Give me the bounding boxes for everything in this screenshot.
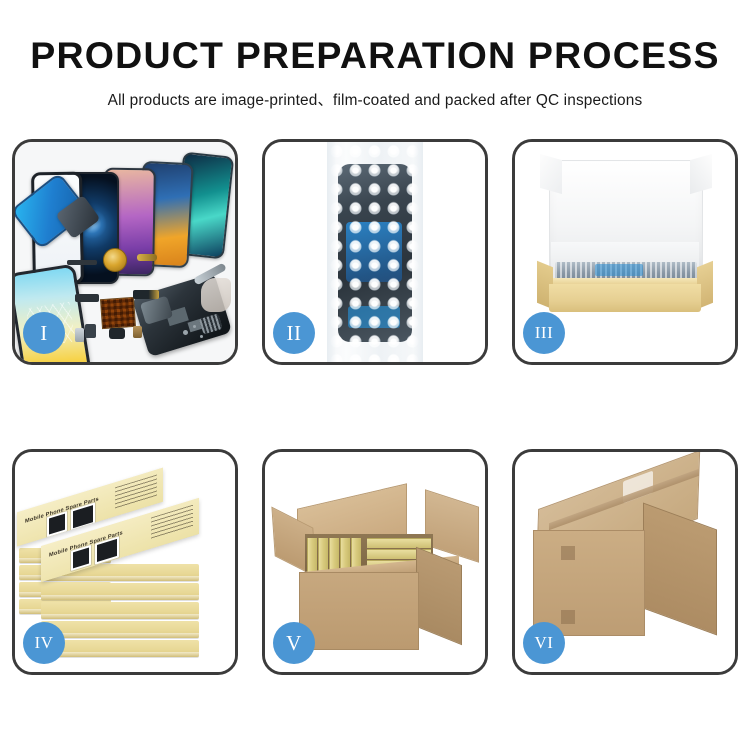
stacked-box xyxy=(41,583,199,600)
step-panel-bubble-wrap-packing[interactable]: II xyxy=(262,139,488,365)
box-window-icon xyxy=(47,511,67,537)
process-steps-grid: I II III xyxy=(12,139,738,675)
camera-module-icon xyxy=(85,324,96,338)
bubble-highlight-icon xyxy=(327,142,423,362)
retail-box-in-carton xyxy=(367,538,431,548)
step-badge-4: IV xyxy=(23,622,65,664)
carton-hand-hole-icon xyxy=(561,610,575,624)
step-panel-stacked-retail-boxes[interactable]: Mobile Phone Spare Parts Mobile Phone Sp… xyxy=(12,449,238,675)
step-panel-products-and-spare-parts[interactable]: I xyxy=(12,139,238,365)
step-badge-3: III xyxy=(523,312,565,354)
carton-front-face xyxy=(299,572,419,650)
page-header: PRODUCT PREPARATION PROCESS All products… xyxy=(0,0,750,110)
wrap-edge-right xyxy=(413,142,423,362)
box-edge xyxy=(41,576,199,581)
step-panel-inner-box-packing[interactable]: III xyxy=(512,139,738,365)
box-edge xyxy=(41,652,199,657)
connector-grid-icon xyxy=(100,297,136,329)
stacked-box xyxy=(41,602,199,619)
box-edge xyxy=(41,614,199,619)
box-edge xyxy=(41,595,199,600)
flex-cable-icon xyxy=(75,294,99,302)
step-badge-2: II xyxy=(273,312,315,354)
wrap-edge-left xyxy=(327,142,337,362)
page-title: PRODUCT PREPARATION PROCESS xyxy=(0,0,750,77)
page-subtitle: All products are image-printed、film-coat… xyxy=(0,77,750,110)
box-front-face xyxy=(549,284,701,312)
step-badge-1: I xyxy=(23,312,65,354)
speaker-module-icon xyxy=(109,328,125,339)
stacked-box xyxy=(41,621,199,638)
step-badge-6: VI xyxy=(523,622,565,664)
flex-cable-icon xyxy=(133,290,159,299)
hand-icon xyxy=(201,278,231,312)
step-badge-5: V xyxy=(273,622,315,664)
button-part-icon xyxy=(133,326,142,338)
flex-cable-icon xyxy=(137,254,157,261)
step-panel-sealed-carton[interactable]: VI xyxy=(512,449,738,675)
screws-icon xyxy=(183,330,188,335)
carton-hand-hole-icon xyxy=(561,546,575,560)
antenna-strip-icon xyxy=(67,260,97,265)
carton-front-face xyxy=(533,530,645,636)
box-edge xyxy=(41,633,199,638)
copper-coil-icon xyxy=(103,248,127,272)
sim-tray-icon xyxy=(75,328,84,342)
step-panel-carton-filling[interactable]: V xyxy=(262,449,488,675)
